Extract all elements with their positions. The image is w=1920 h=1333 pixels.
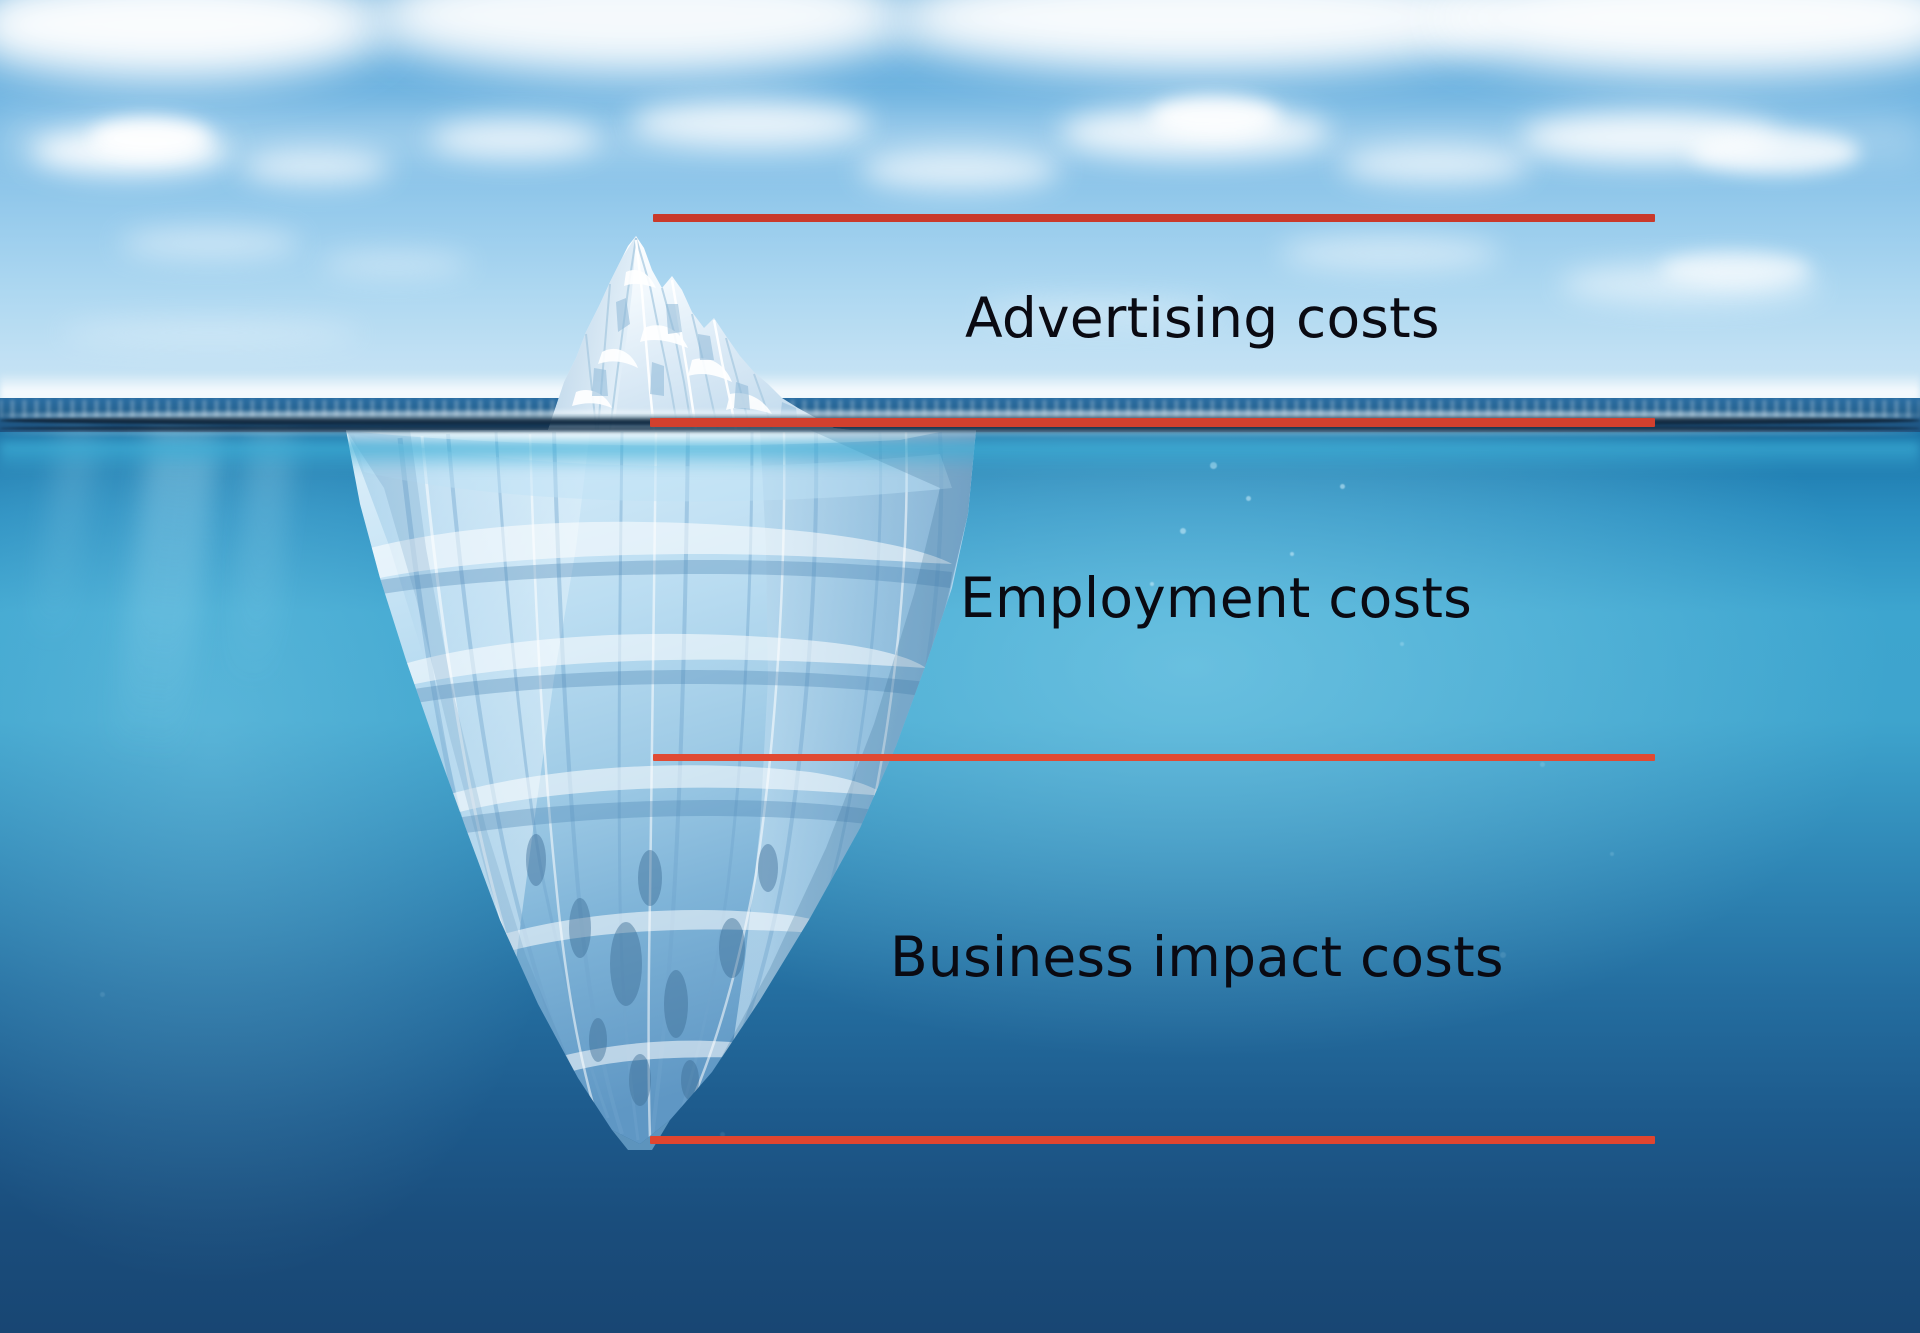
label-advertising-costs: Advertising costs — [965, 286, 1440, 350]
iceberg-diagram-canvas: Advertising costs Employment costs Busin… — [0, 0, 1920, 1333]
marker-line-waterline — [650, 418, 1655, 427]
iceberg-peak — [430, 232, 930, 432]
iceberg-submerged — [340, 428, 980, 1150]
label-employment-costs: Employment costs — [960, 566, 1472, 630]
marker-line-employment-lower — [653, 754, 1655, 761]
marker-line-advertising-upper — [653, 214, 1655, 222]
iceberg-graphic — [0, 0, 1920, 1333]
marker-line-business-lower — [650, 1136, 1655, 1144]
label-business-impact-costs: Business impact costs — [890, 925, 1504, 989]
surface-teal-glow — [0, 442, 1920, 472]
